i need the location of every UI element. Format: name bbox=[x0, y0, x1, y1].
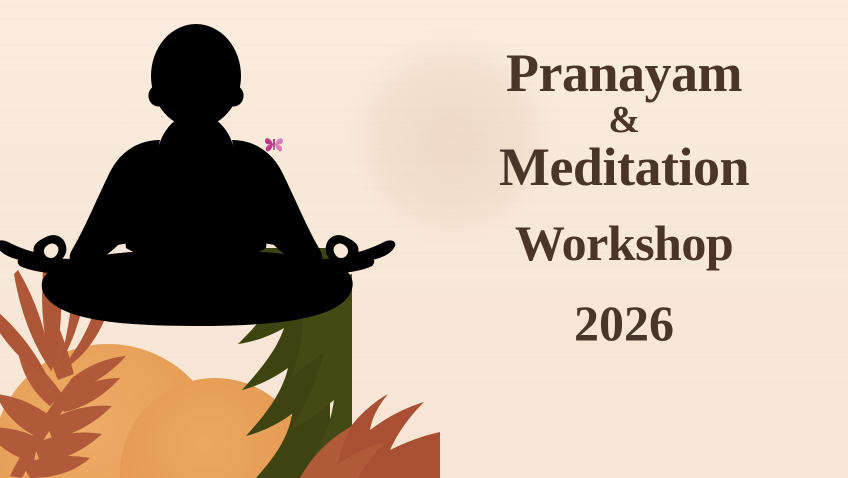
meditating-figure bbox=[0, 14, 400, 334]
title-ampersand: & bbox=[400, 102, 848, 138]
poster-canvas: Pranayam & Meditation Workshop 2026 bbox=[0, 0, 848, 478]
title-year: 2026 bbox=[400, 298, 848, 348]
headline-block: Pranayam & Meditation Workshop 2026 bbox=[400, 24, 848, 348]
title-line-workshop: Workshop bbox=[400, 218, 848, 268]
title-line-meditation: Meditation bbox=[400, 140, 848, 194]
butterfly-icon bbox=[262, 132, 286, 156]
meditating-figure-svg bbox=[0, 14, 400, 334]
title-line-pranayam: Pranayam bbox=[400, 46, 848, 100]
